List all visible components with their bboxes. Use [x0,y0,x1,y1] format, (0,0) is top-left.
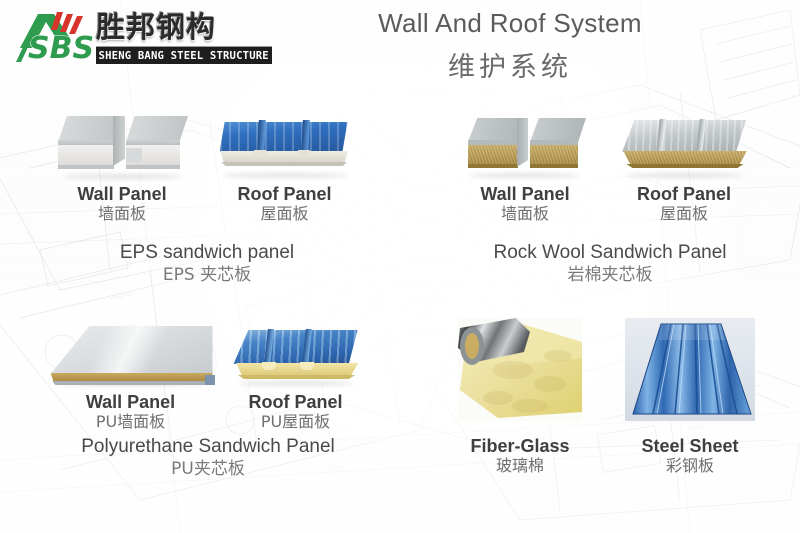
brand-name-cn: 胜邦钢构 [96,10,268,46]
product-label-en: Roof Panel [197,184,372,204]
group-title-en: EPS sandwich panel [42,242,372,264]
brand-name-en: SHENG BANG STEEL STRUCTURE [96,46,272,64]
sbs-logo-icon: SBS [10,8,98,66]
group-title-cn: 岩棉夹芯板 [450,264,770,286]
product-label-en: Wall Panel [38,392,223,412]
page-title-en: Wall And Roof System [330,8,690,39]
product-label-en: Steel Sheet [600,436,780,456]
product-label-en: Fiber-Glass [440,436,600,456]
product-item-rw-roof: Roof Panel 屋面板 [598,108,770,224]
svg-text:entry hall: entry hall [109,291,134,302]
product-item-fiber-glass: Fiber-Glass 玻璃棉 [440,318,600,476]
product-label-cn: 屋面板 [598,204,770,224]
company-logo: SBS 胜邦钢构 SHENG BANG STEEL STRUCTURE [8,6,270,68]
product-item-eps-wall: Wall Panel 墙面板 [42,108,202,224]
product-label-cn: 玻璃棉 [440,456,600,476]
slide-canvas: GARAGE entry hall Family Room 18'-0" 16'… [0,0,800,533]
group-title-cn: EPS 夹芯板 [42,264,372,286]
product-item-eps-roof: Roof Panel 屋面板 [197,108,372,224]
page-title-cn: 维护系统 [330,45,690,84]
group-title-en: Polyurethane Sandwich Panel [38,436,378,458]
product-item-rw-wall: Wall Panel 墙面板 [450,108,600,224]
product-label-cn: 屋面板 [197,204,372,224]
product-label-cn: 墙面板 [450,204,600,224]
product-group-rockwool: Wall Panel 墙面板 Roof Panel 屋面板 Rock Wool [450,108,770,286]
product-item-steel-sheet: Steel Sheet 彩钢板 [600,318,780,476]
product-item-pu-wall: Wall Panel PU墙面板 [38,320,223,432]
product-label-cn: 彩钢板 [600,456,780,476]
product-label-en: Roof Panel [213,392,378,412]
svg-text:SBS: SBS [28,31,94,66]
product-label-cn: 墙面板 [42,204,202,224]
product-label-en: Wall Panel [450,184,600,204]
product-group-eps: Wall Panel 墙面板 Roof Panel 屋面板 [42,108,372,286]
product-group-materials: Fiber-Glass 玻璃棉 [440,318,780,448]
group-title-cn: PU夹芯板 [38,458,378,480]
group-title-en: Rock Wool Sandwich Panel [450,242,770,264]
product-label-en: Wall Panel [42,184,202,204]
product-label-cn: PU墙面板 [38,412,223,432]
product-label-en: Roof Panel [598,184,770,204]
product-label-cn: PU屋面板 [213,412,378,432]
product-item-pu-roof: Roof Panel PU屋面板 [213,320,378,432]
product-group-pu: Wall Panel PU墙面板 Roof Panel PU屋面板 [38,320,378,480]
